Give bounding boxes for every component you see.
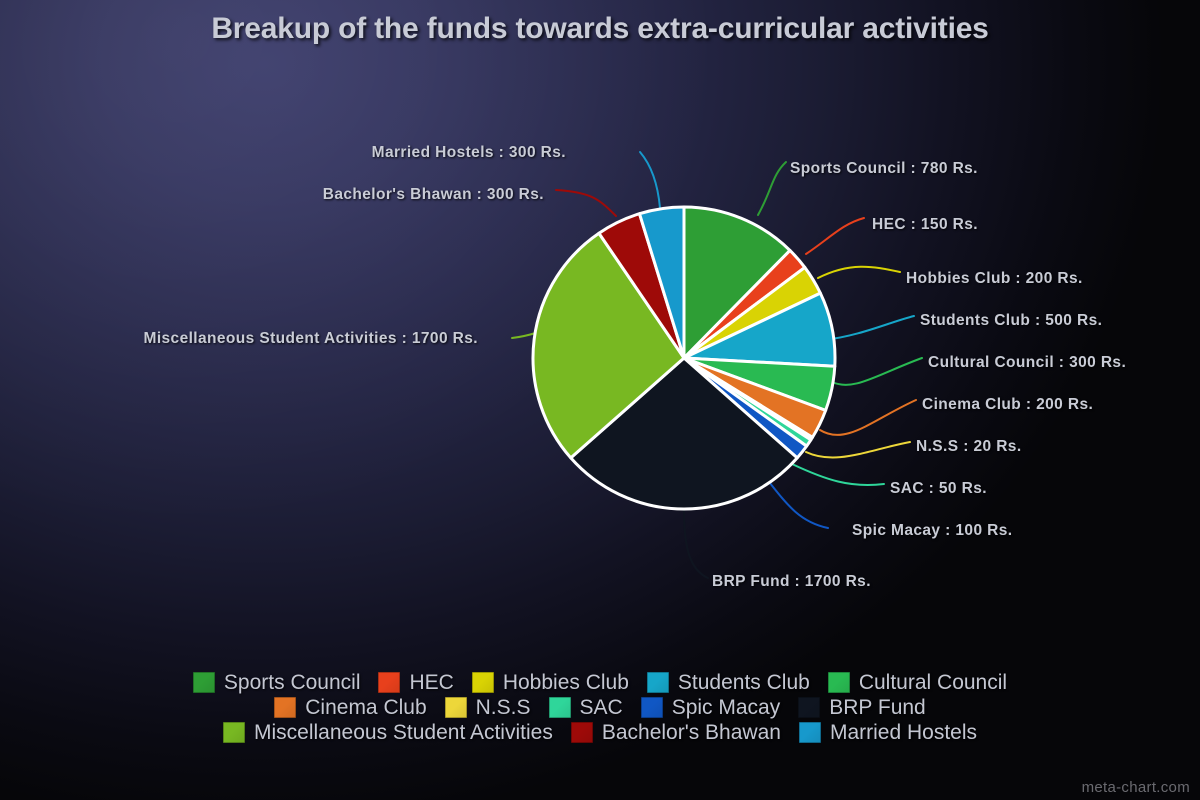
callout-cinema-club: Cinema Club : 200 Rs. [922, 396, 1093, 414]
callout-miscellaneous: Miscellaneous Student Activities : 1700 … [144, 330, 478, 348]
leader-line [818, 267, 900, 278]
leader-line [806, 442, 910, 458]
legend-swatch [647, 672, 669, 693]
legend-swatch [445, 697, 467, 718]
leader-line [766, 478, 828, 528]
legend-label: Miscellaneous Student Activities [254, 722, 553, 743]
legend-label: Cinema Club [305, 697, 426, 718]
legend-swatch [798, 697, 820, 718]
legend-swatch [549, 697, 571, 718]
leader-line [832, 358, 922, 385]
callout-sports-council: Sports Council : 780 Rs. [790, 160, 978, 178]
legend-swatch [571, 722, 593, 743]
legend-row: Miscellaneous Student ActivitiesBachelor… [214, 722, 986, 743]
leader-line [820, 400, 916, 435]
pie-slices [533, 207, 835, 509]
legend-label: Hobbies Club [503, 672, 629, 693]
legend-label: SAC [580, 697, 623, 718]
callout-hobbies-club: Hobbies Club : 200 Rs. [906, 270, 1083, 288]
legend-swatch [799, 722, 821, 743]
legend-item[interactable]: Sports Council [193, 672, 361, 693]
legend-label: Cultural Council [859, 672, 1007, 693]
legend-item[interactable]: N.S.S [445, 697, 531, 718]
callout-married-hostels: Married Hostels : 300 Rs. [372, 144, 566, 162]
legend-swatch [274, 697, 296, 718]
legend-label: N.S.S [476, 697, 531, 718]
chart-canvas: Breakup of the funds towards extra-curri… [0, 0, 1200, 800]
callout-hec: HEC : 150 Rs. [872, 216, 978, 234]
legend-label: Students Club [678, 672, 810, 693]
callout-bachelors-bhawan: Bachelor's Bhawan : 300 Rs. [323, 186, 544, 204]
legend-swatch [193, 672, 215, 693]
callout-sac: SAC : 50 Rs. [890, 480, 987, 498]
leader-line [640, 152, 660, 208]
callout-nss: N.S.S : 20 Rs. [916, 438, 1022, 456]
callout-brp-fund: BRP Fund : 1700 Rs. [712, 573, 871, 591]
legend-label: Spic Macay [672, 697, 781, 718]
legend-label: Married Hostels [830, 722, 977, 743]
legend-item[interactable]: Married Hostels [799, 722, 977, 743]
legend-item[interactable]: BRP Fund [798, 697, 926, 718]
legend-label: BRP Fund [829, 697, 926, 718]
watermark: meta-chart.com [1082, 779, 1190, 796]
legend-row: Cinema ClubN.S.SSACSpic MacayBRP Fund [265, 697, 934, 718]
legend-row: Sports CouncilHECHobbies ClubStudents Cl… [184, 672, 1016, 693]
leader-line [792, 464, 884, 485]
legend-item[interactable]: SAC [549, 697, 623, 718]
legend-item[interactable]: Cultural Council [828, 672, 1007, 693]
chart-legend: Sports CouncilHECHobbies ClubStudents Cl… [0, 672, 1200, 743]
leader-line [824, 316, 914, 340]
leader-line [556, 190, 616, 216]
legend-item[interactable]: Miscellaneous Student Activities [223, 722, 553, 743]
legend-swatch [828, 672, 850, 693]
legend-item[interactable]: Bachelor's Bhawan [571, 722, 781, 743]
leader-line [684, 510, 708, 578]
legend-label: Sports Council [224, 672, 361, 693]
legend-swatch [378, 672, 400, 693]
legend-swatch [223, 722, 245, 743]
legend-item[interactable]: Hobbies Club [472, 672, 629, 693]
legend-swatch [641, 697, 663, 718]
callout-students-club: Students Club : 500 Rs. [920, 312, 1102, 330]
legend-item[interactable]: HEC [378, 672, 453, 693]
legend-label: HEC [409, 672, 453, 693]
legend-item[interactable]: Spic Macay [641, 697, 781, 718]
callout-cultural-council: Cultural Council : 300 Rs. [928, 354, 1126, 372]
callout-spic-macay: Spic Macay : 100 Rs. [852, 522, 1013, 540]
leader-line [758, 162, 786, 215]
legend-item[interactable]: Cinema Club [274, 697, 426, 718]
leader-line [806, 218, 864, 254]
legend-item[interactable]: Students Club [647, 672, 810, 693]
legend-swatch [472, 672, 494, 693]
legend-label: Bachelor's Bhawan [602, 722, 781, 743]
